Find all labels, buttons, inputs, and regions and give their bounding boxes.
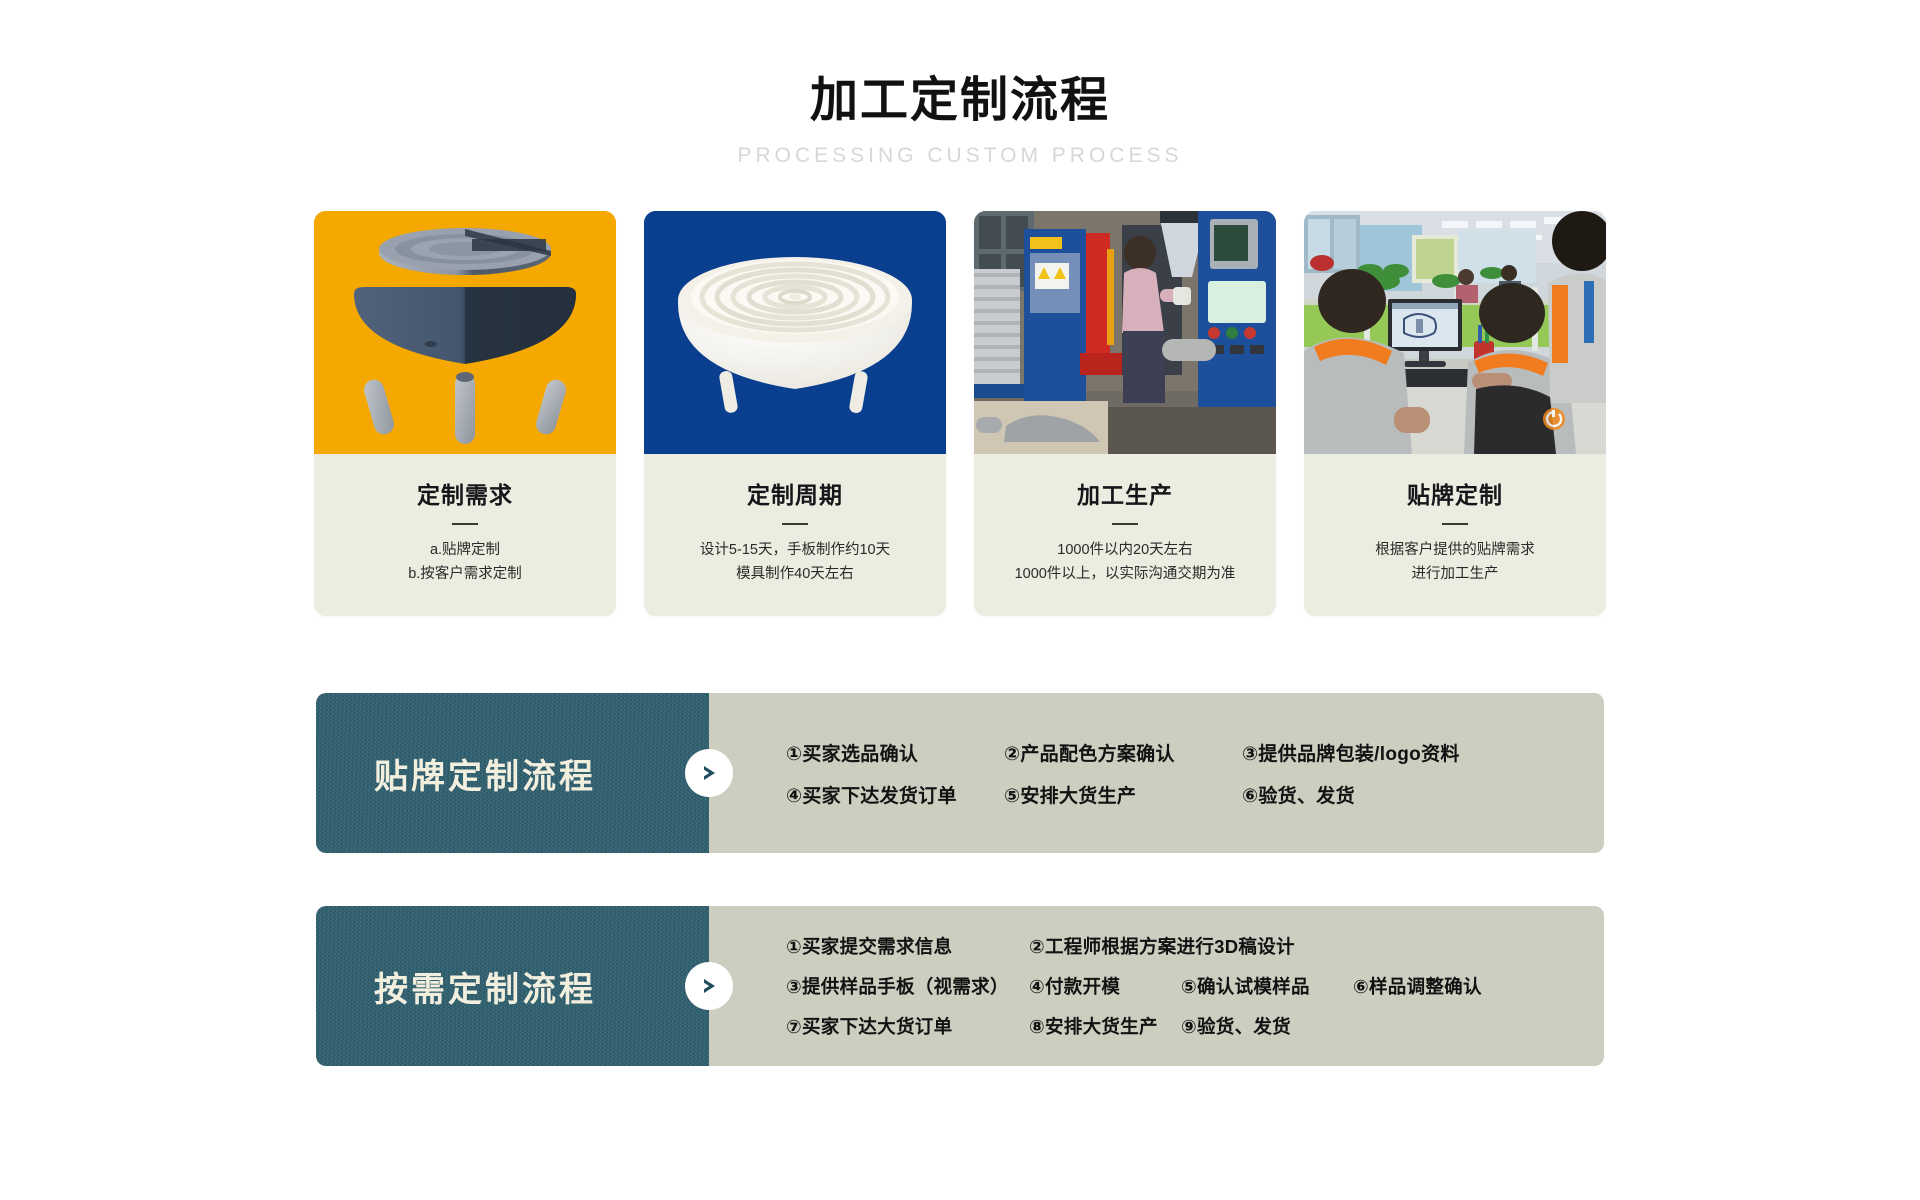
oem-step-6: ⑥验货、发货	[1242, 781, 1355, 808]
ondemand-banner-label: 按需定制流程	[316, 906, 709, 1066]
card-4-divider	[1442, 523, 1468, 525]
page-root: 加工定制流程 PROCESSING CUSTOM PROCESS	[0, 0, 1920, 1200]
card-4-desc-line-2: 进行加工生产	[1314, 563, 1596, 587]
oem-step-row-2: ④买家下达发货订单 ⑤安排大货生产 ⑥验货、发货	[786, 773, 1586, 815]
white-prototype-illustration	[644, 211, 946, 454]
ondemand-step-3: ③提供样品手板（视需求）	[786, 973, 1029, 999]
card-1-title: 定制需求	[324, 476, 606, 510]
card-3-image	[974, 211, 1276, 454]
card-1-description: a.贴牌定制 b.按客户需求定制	[324, 539, 606, 587]
oem-process-banner: 贴牌定制流程 ①买家选品确认 ②产品配色方案确认 ③提供品牌包装/logo资料 …	[316, 693, 1604, 853]
ondemand-process-banner: 按需定制流程 ①买家提交需求信息 ②工程师根据方案进行3D稿设计 ③提供样品手板…	[316, 906, 1604, 1066]
ondemand-step-7: ⑦买家下达大货订单	[786, 1013, 1029, 1039]
oem-step-5: ⑤安排大货生产	[1004, 781, 1242, 808]
card-3-divider	[1112, 523, 1138, 525]
process-card-2[interactable]: 定制周期 设计5-15天，手板制作约10天 模具制作40天左右	[644, 211, 946, 617]
card-2-image	[644, 211, 946, 454]
process-card-1[interactable]: 定制需求 a.贴牌定制 b.按客户需求定制	[314, 211, 616, 617]
card-2-divider	[782, 523, 808, 525]
ondemand-step-9: ⑨验货、发货	[1181, 1013, 1291, 1039]
ondemand-step-1: ①买家提交需求信息	[786, 933, 1029, 959]
card-2-body: 定制周期 设计5-15天，手板制作约10天 模具制作40天左右	[644, 454, 946, 617]
ondemand-step-5: ⑤确认试模样品	[1181, 973, 1353, 999]
office-photo-illustration	[1304, 211, 1606, 454]
oem-step-row-1: ①买家选品确认 ②产品配色方案确认 ③提供品牌包装/logo资料	[786, 731, 1586, 773]
card-4-body: 贴牌定制 根据客户提供的贴牌需求 进行加工生产	[1304, 454, 1606, 617]
oem-step-2: ②产品配色方案确认	[1004, 739, 1242, 766]
card-2-desc-line-1: 设计5-15天，手板制作约10天	[654, 539, 936, 563]
chevron-right-icon	[685, 962, 733, 1010]
card-4-title: 贴牌定制	[1314, 476, 1596, 510]
process-card-3[interactable]: 加工生产 1000件以内20天左右 1000件以上，以实际沟通交期为准	[974, 211, 1276, 617]
exploded-grill-illustration	[314, 211, 616, 454]
card-1-image	[314, 211, 616, 454]
ondemand-step-2: ②工程师根据方案进行3D稿设计	[1029, 933, 1295, 959]
card-1-body: 定制需求 a.贴牌定制 b.按客户需求定制	[314, 454, 616, 617]
chevron-right-icon	[685, 749, 733, 797]
oem-banner-label: 贴牌定制流程	[316, 693, 709, 853]
ondemand-banner-steps: ①买家提交需求信息 ②工程师根据方案进行3D稿设计 ③提供样品手板（视需求） ④…	[709, 906, 1604, 1066]
ondemand-step-row-2: ③提供样品手板（视需求） ④付款开模 ⑤确认试模样品 ⑥样品调整确认	[786, 966, 1586, 1006]
card-3-title: 加工生产	[984, 476, 1266, 510]
oem-step-3: ③提供品牌包装/logo资料	[1242, 739, 1460, 766]
oem-banner-label-text: 贴牌定制流程	[374, 749, 596, 798]
card-2-description: 设计5-15天，手板制作约10天 模具制作40天左右	[654, 539, 936, 587]
card-3-desc-line-2: 1000件以上，以实际沟通交期为准	[984, 563, 1266, 587]
page-subtitle: PROCESSING CUSTOM PROCESS	[0, 144, 1920, 168]
oem-banner-steps: ①买家选品确认 ②产品配色方案确认 ③提供品牌包装/logo资料 ④买家下达发货…	[709, 693, 1604, 853]
card-4-image	[1304, 211, 1606, 454]
card-1-desc-line-1: a.贴牌定制	[324, 539, 606, 563]
ondemand-banner-label-text: 按需定制流程	[374, 962, 596, 1011]
card-1-desc-line-2: b.按客户需求定制	[324, 563, 606, 587]
page-header: 加工定制流程 PROCESSING CUSTOM PROCESS	[0, 0, 1920, 168]
card-2-title: 定制周期	[654, 476, 936, 510]
card-3-desc-line-1: 1000件以内20天左右	[984, 539, 1266, 563]
card-3-body: 加工生产 1000件以内20天左右 1000件以上，以实际沟通交期为准	[974, 454, 1276, 617]
card-2-desc-line-2: 模具制作40天左右	[654, 563, 936, 587]
ondemand-step-6: ⑥样品调整确认	[1353, 973, 1482, 999]
factory-photo-illustration	[974, 211, 1276, 454]
oem-step-1: ①买家选品确认	[786, 739, 1004, 766]
card-1-divider	[452, 523, 478, 525]
oem-step-4: ④买家下达发货订单	[786, 781, 1004, 808]
card-4-desc-line-1: 根据客户提供的贴牌需求	[1314, 539, 1596, 563]
ondemand-step-4: ④付款开模	[1029, 973, 1181, 999]
ondemand-step-row-3: ⑦买家下达大货订单 ⑧安排大货生产 ⑨验货、发货	[786, 1006, 1586, 1046]
process-card-4[interactable]: 贴牌定制 根据客户提供的贴牌需求 进行加工生产	[1304, 211, 1606, 617]
card-3-description: 1000件以内20天左右 1000件以上，以实际沟通交期为准	[984, 539, 1266, 587]
card-4-description: 根据客户提供的贴牌需求 进行加工生产	[1314, 539, 1596, 587]
ondemand-step-8: ⑧安排大货生产	[1029, 1013, 1181, 1039]
process-card-list: 定制需求 a.贴牌定制 b.按客户需求定制	[0, 211, 1920, 617]
page-title: 加工定制流程	[0, 72, 1920, 130]
ondemand-step-row-1: ①买家提交需求信息 ②工程师根据方案进行3D稿设计	[786, 926, 1586, 966]
